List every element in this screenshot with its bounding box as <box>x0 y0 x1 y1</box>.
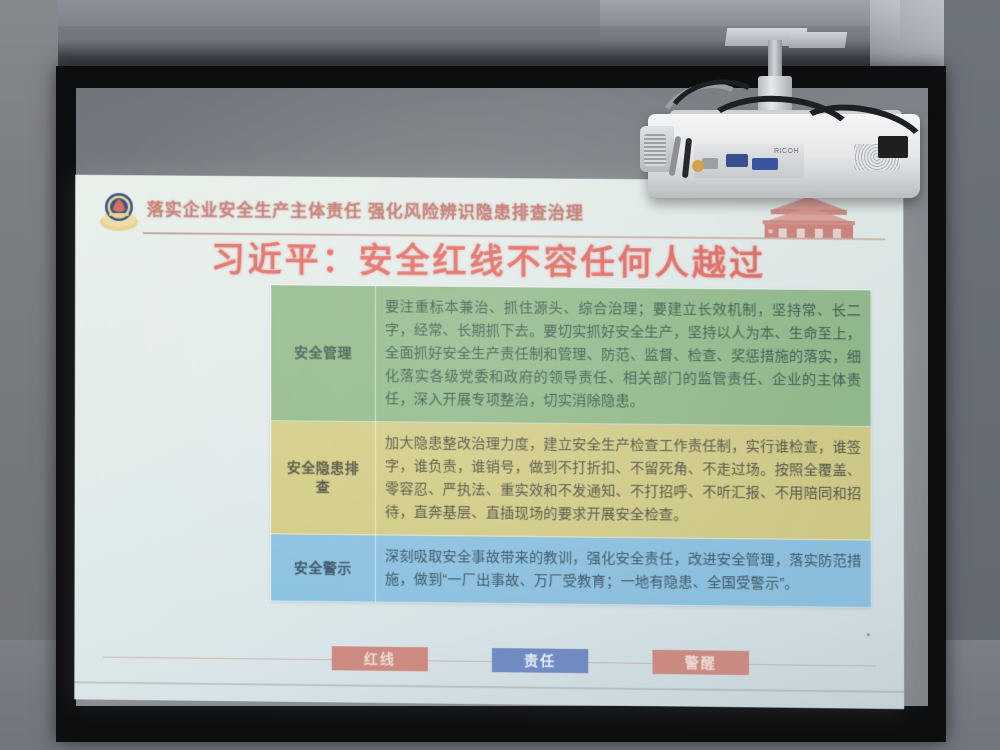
row-text: 深刻吸取安全事故带来的教训，强化安全责任，改进安全管理，落实防范措施，做到“一厂… <box>375 535 871 608</box>
tag-hongxian: 红线 <box>332 646 428 671</box>
emergency-management-emblem-icon <box>97 190 141 232</box>
row-text: 要注重标本兼治、抓住源头、综合治理；要建立长效机制，坚持常、长二字，经常、长期抓… <box>375 286 871 427</box>
row-text: 加大隐患整改治理力度，建立安全生产检查工作责任制，实行谁检查，谁签字，谁负责，谁… <box>375 422 871 540</box>
photo-scene: 落实企业安全生产主体责任 强化风险辨识隐患排查治理 <box>0 0 1000 750</box>
slide-tag-bar: 红线 责任 警醒 <box>74 643 904 679</box>
slide-header-title: 落实企业安全生产主体责任 强化风险辨识隐患排查治理 <box>147 195 584 224</box>
projector-mount-plate-secondary <box>789 32 847 48</box>
table-row: 安全警示 深刻吸取安全事故带来的教训，强化安全责任，改进安全管理，落实防范措施，… <box>270 534 871 608</box>
slide-foot-divider <box>74 681 904 693</box>
table-row: 安全隐患排查 加大隐患整改治理力度，建立安全生产检查工作责任制，实行谁检查，谁签… <box>271 421 872 540</box>
slide-speck <box>867 633 870 636</box>
row-label: 安全隐患排查 <box>271 421 376 535</box>
projected-slide: 落实企业安全生产主体责任 强化风险辨识隐患排查治理 <box>74 175 904 709</box>
tag-connector-line <box>102 657 876 667</box>
projector-vent <box>644 134 666 166</box>
ceiling-projector: RICOH <box>640 18 940 203</box>
tag-zeren: 责任 <box>492 648 588 673</box>
wall-right <box>944 0 1000 750</box>
row-label: 安全警示 <box>270 534 375 602</box>
content-table: 安全管理 要注重标本兼治、抓住源头、综合治理；要建立长效机制，坚持常、长二字，经… <box>270 284 872 608</box>
projector-power-port <box>692 160 704 172</box>
slide-main-title: 习近平：安全红线不容任何人越过 <box>75 231 903 287</box>
table-row: 安全管理 要注重标本兼治、抓住源头、综合治理；要建立长效机制，坚持常、长二字，经… <box>271 285 871 427</box>
row-label: 安全管理 <box>271 285 376 422</box>
wall-left <box>0 0 58 750</box>
tag-jingxing: 警醒 <box>653 650 750 675</box>
